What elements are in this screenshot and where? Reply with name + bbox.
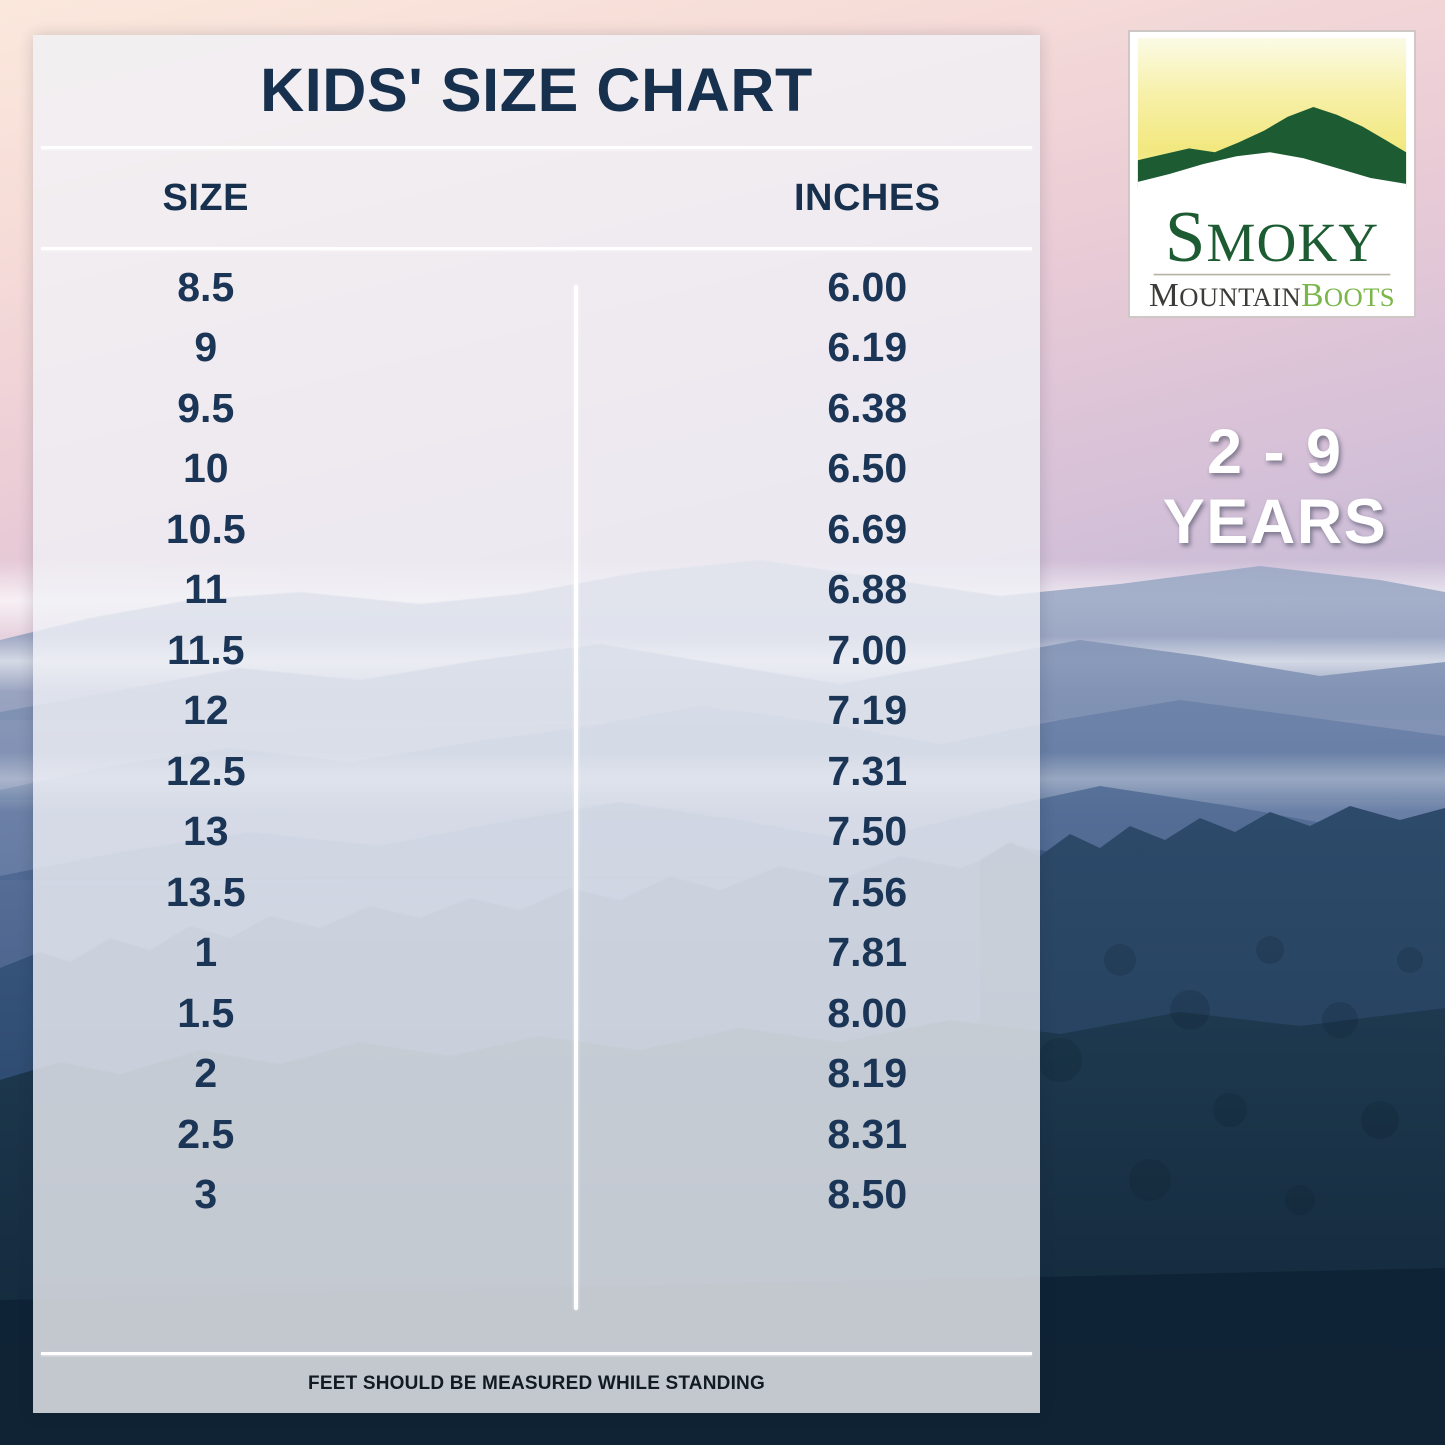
cell-inches: 6.50 <box>607 445 1041 492</box>
table-row: 12 7.19 <box>33 681 1040 742</box>
cell-size: 12.5 <box>33 748 607 795</box>
page-title: KIDS' SIZE CHART <box>260 55 813 125</box>
cell-size: 9 <box>33 324 607 371</box>
table-row: 1 7.81 <box>33 923 1040 984</box>
divider-top <box>41 146 1032 149</box>
cell-size: 8.5 <box>33 264 607 311</box>
cell-size: 13.5 <box>33 869 607 916</box>
cell-inches: 6.69 <box>607 506 1041 553</box>
table-row: 10 6.50 <box>33 439 1040 500</box>
cell-size: 10 <box>33 445 607 492</box>
cell-inches: 6.88 <box>607 566 1041 613</box>
table-row: 13 7.50 <box>33 802 1040 863</box>
cell-size: 1 <box>33 929 607 976</box>
svg-text:MOUNTAINBOOTS: MOUNTAINBOOTS <box>1149 277 1395 314</box>
cell-inches: 7.00 <box>607 627 1041 674</box>
cell-inches: 6.00 <box>607 264 1041 311</box>
smoky-mountain-boots-logo-icon: SMOKY MOUNTAINBOOTS <box>1130 32 1414 316</box>
size-chart-panel: KIDS' SIZE CHART SIZE INCHES 8.5 6.00 9 … <box>33 35 1040 1413</box>
cell-inches: 8.31 <box>607 1111 1041 1158</box>
age-range-unit: YEARS <box>1110 490 1440 554</box>
table-row: 11 6.88 <box>33 560 1040 621</box>
cell-inches: 8.50 <box>607 1171 1041 1218</box>
cell-size: 11 <box>33 566 607 613</box>
cell-size: 12 <box>33 687 607 734</box>
cell-inches: 6.19 <box>607 324 1041 371</box>
table-row: 9.5 6.38 <box>33 378 1040 439</box>
column-header-size: SIZE <box>33 177 607 220</box>
table-row: 13.5 7.56 <box>33 862 1040 923</box>
cell-size: 1.5 <box>33 990 607 1037</box>
footer-note: FEET SHOULD BE MEASURED WHILE STANDING <box>33 1355 1040 1413</box>
cell-inches: 6.38 <box>607 385 1041 432</box>
table-row: 10.5 6.69 <box>33 499 1040 560</box>
table-row: 9 6.19 <box>33 318 1040 379</box>
cell-inches: 8.19 <box>607 1050 1041 1097</box>
title-band: KIDS' SIZE CHART <box>33 35 1040 144</box>
cell-inches: 7.50 <box>607 808 1041 855</box>
table-row: 2.5 8.31 <box>33 1104 1040 1165</box>
cell-inches: 7.56 <box>607 869 1041 916</box>
cell-size: 2.5 <box>33 1111 607 1158</box>
divider-header <box>41 247 1032 250</box>
table-row: 12.5 7.31 <box>33 741 1040 802</box>
table-row: 8.5 6.00 <box>33 257 1040 318</box>
brand-logo: SMOKY MOUNTAINBOOTS <box>1128 30 1416 318</box>
cell-size: 3 <box>33 1171 607 1218</box>
table-row: 1.5 8.00 <box>33 983 1040 1044</box>
age-range-badge: 2 - 9 YEARS <box>1110 420 1440 555</box>
table-row: 3 8.50 <box>33 1165 1040 1226</box>
age-range-value: 2 - 9 <box>1110 420 1440 484</box>
footer-note-text: FEET SHOULD BE MEASURED WHILE STANDING <box>308 1373 765 1395</box>
cell-size: 11.5 <box>33 627 607 674</box>
size-table-body: 8.5 6.00 9 6.19 9.5 6.38 10 6.50 10.5 6.… <box>33 251 1040 1351</box>
cell-inches: 7.31 <box>607 748 1041 795</box>
cell-size: 13 <box>33 808 607 855</box>
table-row: 2 8.19 <box>33 1044 1040 1105</box>
cell-inches: 8.00 <box>607 990 1041 1037</box>
cell-size: 2 <box>33 1050 607 1097</box>
cell-size: 10.5 <box>33 506 607 553</box>
cell-inches: 7.19 <box>607 687 1041 734</box>
cell-inches: 7.81 <box>607 929 1041 976</box>
cell-size: 9.5 <box>33 385 607 432</box>
table-header-row: SIZE INCHES <box>33 150 1040 246</box>
table-row: 11.5 7.00 <box>33 620 1040 681</box>
column-header-inches: INCHES <box>607 177 1041 220</box>
